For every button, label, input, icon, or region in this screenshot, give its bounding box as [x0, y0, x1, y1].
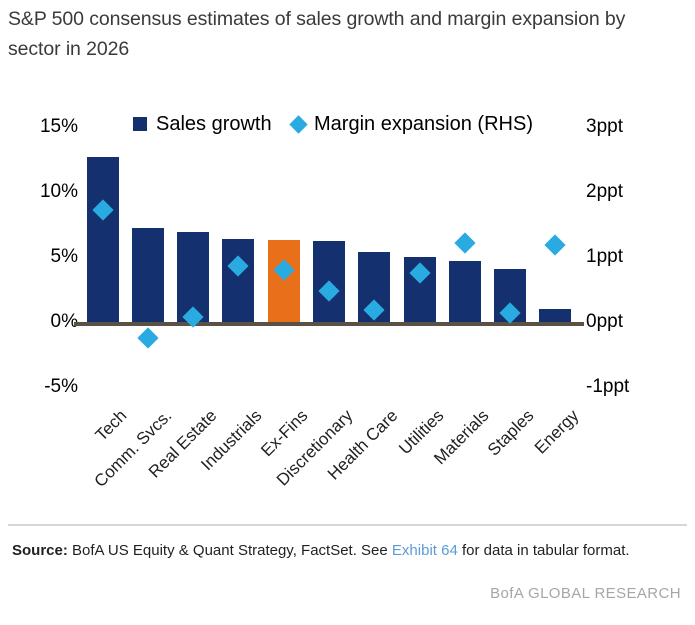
source-text-post: for data in tabular format. [458, 542, 630, 559]
footer-divider [8, 524, 687, 526]
y-axis-right-tick-1: 2ppt [586, 182, 623, 201]
y-axis-left-tick-1: 10% [40, 182, 78, 201]
chart-container: Sales growth Margin expansion (RHS) 15% … [0, 100, 695, 500]
y-axis-right-tick-3: 0ppt [586, 312, 623, 331]
marker-energy[interactable] [545, 235, 566, 256]
x-axis-label-energy: Energy [531, 406, 583, 458]
y-axis-left-tick-0: 15% [40, 117, 78, 136]
bar-materials[interactable] [449, 261, 481, 322]
y-axis-left-tick-2: 5% [51, 247, 78, 266]
research-credit: BofA GLOBAL RESEARCH [490, 585, 681, 602]
bar-tech[interactable] [87, 157, 119, 322]
y-axis-left-tick-4: -5% [44, 377, 78, 396]
page-title: S&P 500 consensus estimates of sales gro… [8, 4, 680, 64]
x-axis-labels: TechComm. Svcs.Real EstateIndustrialsEx-… [0, 400, 695, 500]
y-axis-right-tick-4: -1ppt [586, 377, 629, 396]
x-axis-zero-line [74, 322, 584, 326]
bar-comm-svcs[interactable] [132, 228, 164, 322]
source-text-pre: BofA US Equity & Quant Strategy, FactSet… [68, 542, 392, 559]
bar-industrials[interactable] [222, 239, 254, 322]
bar-ex-fins[interactable] [268, 240, 300, 322]
source-note: Source: BofA US Equity & Quant Strategy,… [12, 540, 687, 562]
bar-energy[interactable] [539, 309, 571, 322]
y-axis-right-tick-0: 3ppt [586, 117, 623, 136]
x-axis-label-staples: Staples [484, 406, 538, 460]
y-axis-right-tick-2: 1ppt [586, 247, 623, 266]
source-label: Source: [12, 542, 68, 559]
marker-comm-svcs[interactable] [137, 328, 158, 349]
plot-area [80, 127, 578, 387]
x-axis-label-tech: Tech [91, 406, 131, 446]
marker-materials[interactable] [454, 233, 475, 254]
exhibit-link[interactable]: Exhibit 64 [392, 542, 458, 559]
